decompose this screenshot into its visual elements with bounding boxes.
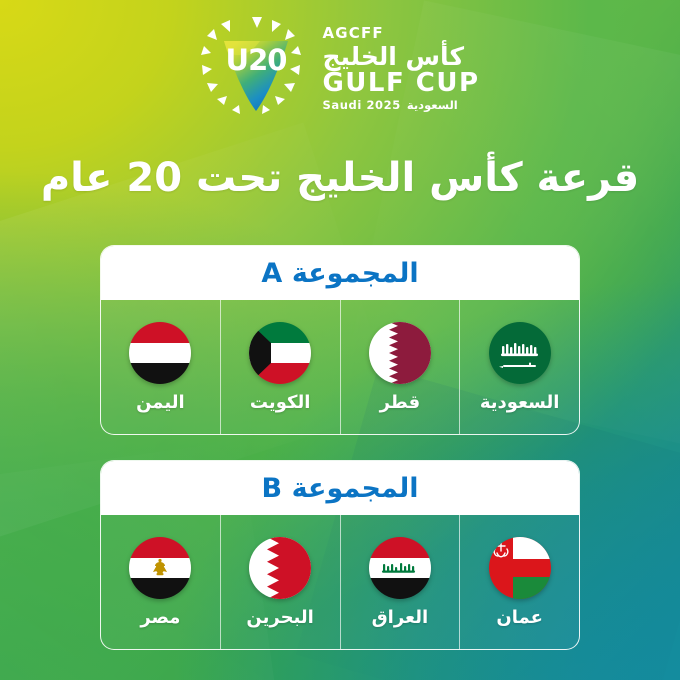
group-b-label: المجموعة B: [262, 473, 419, 504]
team-cell-egypt[interactable]: مصر: [101, 515, 221, 649]
saudi-arabia-flag-icon: [489, 322, 551, 384]
yemen-flag-icon: [129, 322, 191, 384]
cup-name-arabic: كأس الخليج: [322, 44, 464, 69]
group-card-a: المجموعة A اليمن: [100, 245, 580, 435]
host-line: Saudi 2025 السعودية: [322, 100, 457, 112]
team-name-qatar: قطر: [380, 392, 421, 413]
host-year-english: Saudi 2025: [322, 100, 400, 112]
qatar-flag-icon: [369, 322, 431, 384]
host-country-arabic: السعودية: [407, 100, 458, 112]
page-title: قرعة كأس الخليج تحت 20 عام: [0, 155, 680, 201]
tournament-logo: U20 AGCFF كأس الخليج GULF CUP Saudi 2025…: [0, 12, 680, 124]
team-name-saudi-arabia: السعودية: [480, 392, 560, 413]
group-a-label: المجموعة A: [261, 258, 418, 289]
group-a-teams: اليمن الكويت: [101, 300, 579, 434]
team-name-iraq: العراق: [372, 607, 429, 628]
team-cell-yemen[interactable]: اليمن: [101, 300, 221, 434]
group-b-header: المجموعة B: [101, 461, 579, 515]
poster-canvas: U20 AGCFF كأس الخليج GULF CUP Saudi 2025…: [0, 0, 680, 680]
logo-wordmark: AGCFF كأس الخليج GULF CUP Saudi 2025 الس…: [322, 24, 479, 112]
oman-flag-icon: [489, 537, 551, 599]
team-name-egypt: مصر: [140, 607, 180, 628]
cup-name-english: GULF CUP: [322, 70, 479, 96]
team-cell-kuwait[interactable]: الكويت: [221, 300, 341, 434]
kuwait-flag-icon: [249, 322, 311, 384]
group-card-b: المجموعة B: [100, 460, 580, 650]
svg-text:U20: U20: [226, 43, 287, 77]
team-name-bahrain: البحرين: [246, 607, 313, 628]
team-name-kuwait: الكويت: [250, 392, 311, 413]
team-cell-oman[interactable]: عمان: [460, 515, 579, 649]
egypt-flag-icon: [129, 537, 191, 599]
team-cell-qatar[interactable]: قطر: [341, 300, 461, 434]
federation-abbreviation: AGCFF: [322, 26, 383, 41]
team-cell-bahrain[interactable]: البحرين: [221, 515, 341, 649]
u20-trophy-badge-icon: U20: [200, 15, 312, 121]
group-b-teams: مصر البحرين: [101, 515, 579, 649]
team-name-oman: عمان: [496, 607, 543, 628]
team-cell-saudi-arabia[interactable]: السعودية: [460, 300, 579, 434]
iraq-flag-icon: [369, 537, 431, 599]
group-a-header: المجموعة A: [101, 246, 579, 300]
bahrain-flag-icon: [249, 537, 311, 599]
team-name-yemen: اليمن: [136, 392, 185, 413]
team-cell-iraq[interactable]: العراق: [341, 515, 461, 649]
